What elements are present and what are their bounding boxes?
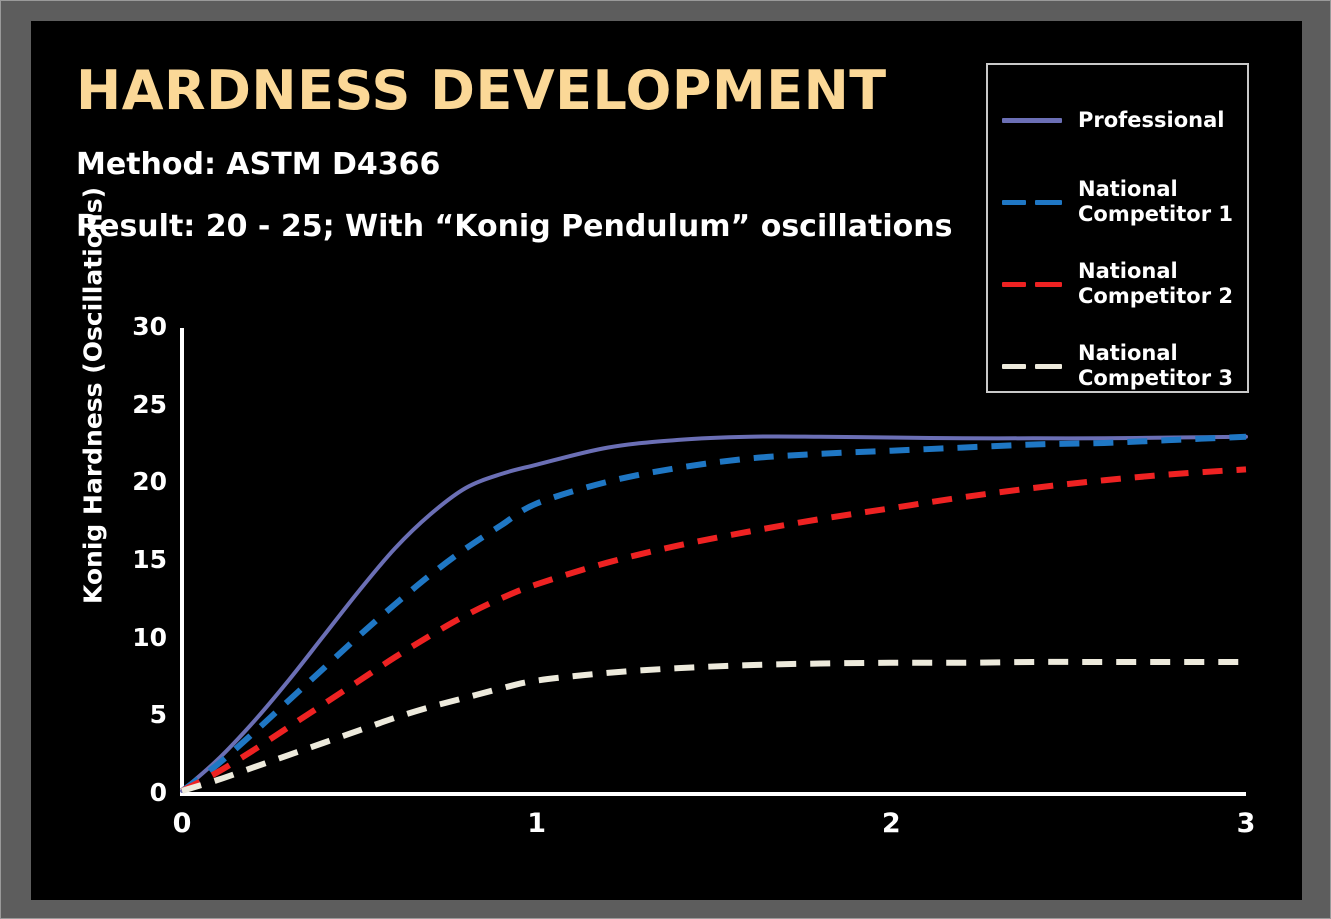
slide-canvas: HARDNESS DEVELOPMENT Method: ASTM D4366 … xyxy=(31,21,1302,900)
chart-canvas xyxy=(31,21,1302,900)
y-axis-tick-label: 10 xyxy=(107,623,167,652)
slide-frame: HARDNESS DEVELOPMENT Method: ASTM D4366 … xyxy=(0,0,1331,919)
y-axis-tick-label: 15 xyxy=(107,545,167,574)
x-axis-tick-label: 3 xyxy=(1226,808,1266,839)
chart-series-line xyxy=(182,436,1246,790)
chart-series-line xyxy=(182,469,1246,791)
y-axis-tick-label: 0 xyxy=(107,778,167,807)
x-axis-tick-label: 0 xyxy=(162,808,202,839)
chart-series-line xyxy=(182,662,1246,791)
x-axis-tick-label: 1 xyxy=(517,808,557,839)
y-axis-tick-label: 20 xyxy=(107,467,167,496)
y-axis-tick-label: 5 xyxy=(107,700,167,729)
chart-plot-area: Konig Hardness (Oscillations) 3025201510… xyxy=(31,21,1302,900)
chart-axis-lines xyxy=(182,328,1246,794)
y-axis-tick-label: 25 xyxy=(107,390,167,419)
y-axis-tick-label: 30 xyxy=(107,312,167,341)
x-axis-tick-label: 2 xyxy=(871,808,911,839)
